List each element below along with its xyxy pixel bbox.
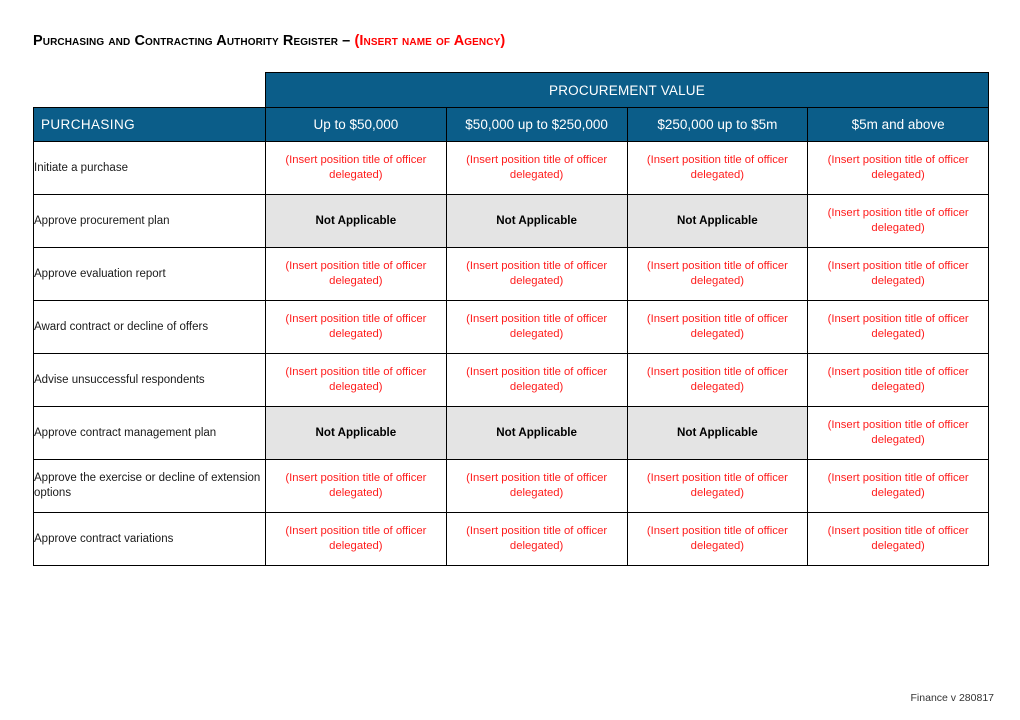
table-row: Approve contract variations (Insert posi… (34, 513, 989, 566)
table-cell: (Insert position title of officer delega… (266, 354, 447, 407)
row-label: Initiate a purchase (34, 142, 266, 195)
table-cell: Not Applicable (446, 195, 627, 248)
table-row: Initiate a purchase (Insert position tit… (34, 142, 989, 195)
row-label: Approve contract management plan (34, 407, 266, 460)
footer-version-note: Finance v 280817 (911, 692, 994, 704)
column-header-purchasing: PURCHASING (34, 108, 266, 142)
table-cell: Not Applicable (627, 195, 808, 248)
table-cell: (Insert position title of officer delega… (446, 354, 627, 407)
table-cell: (Insert position title of officer delega… (627, 301, 808, 354)
table-cell: Not Applicable (627, 407, 808, 460)
table-body: Initiate a purchase (Insert position tit… (34, 142, 989, 566)
table-cell: (Insert position title of officer delega… (266, 460, 447, 513)
column-header-value-2: $50,000 up to $250,000 (446, 108, 627, 142)
table-cell: (Insert position title of officer delega… (627, 248, 808, 301)
table-cell: Not Applicable (266, 407, 447, 460)
table-cell: Not Applicable (446, 407, 627, 460)
banner-row: PROCUREMENT VALUE (34, 73, 989, 108)
table-cell: (Insert position title of officer delega… (808, 142, 989, 195)
page-title: Purchasing and Contracting Authority Reg… (33, 33, 505, 49)
row-label: Advise unsuccessful respondents (34, 354, 266, 407)
table-cell: (Insert position title of officer delega… (627, 460, 808, 513)
table-cell: (Insert position title of officer delega… (266, 513, 447, 566)
column-header-value-3: $250,000 up to $5m (627, 108, 808, 142)
table-cell: (Insert position title of officer delega… (808, 248, 989, 301)
row-label: Award contract or decline of offers (34, 301, 266, 354)
row-label: Approve contract variations (34, 513, 266, 566)
column-header-row: PURCHASING Up to $50,000 $50,000 up to $… (34, 108, 989, 142)
table-cell: (Insert position title of officer delega… (808, 301, 989, 354)
table-cell: (Insert position title of officer delega… (446, 248, 627, 301)
table-cell: (Insert position title of officer delega… (266, 142, 447, 195)
table-cell: (Insert position title of officer delega… (808, 354, 989, 407)
table-row: Advise unsuccessful respondents (Insert … (34, 354, 989, 407)
row-label: Approve the exercise or decline of exten… (34, 460, 266, 513)
table-row: Approve contract management plan Not App… (34, 407, 989, 460)
page-title-black-part: Purchasing and Contracting Authority Reg… (33, 33, 354, 49)
table-cell: Not Applicable (266, 195, 447, 248)
table-cell: (Insert position title of officer delega… (627, 354, 808, 407)
table-cell: (Insert position title of officer delega… (266, 301, 447, 354)
table-row: Approve procurement plan Not Applicable … (34, 195, 989, 248)
table-row: Award contract or decline of offers (Ins… (34, 301, 989, 354)
table-cell: (Insert position title of officer delega… (808, 513, 989, 566)
column-header-value-1: Up to $50,000 (266, 108, 447, 142)
column-header-value-4: $5m and above (808, 108, 989, 142)
table-cell: (Insert position title of officer delega… (627, 142, 808, 195)
table-cell: (Insert position title of officer delega… (446, 460, 627, 513)
authority-register-table: PROCUREMENT VALUE PURCHASING Up to $50,0… (33, 72, 989, 566)
table-row: Approve evaluation report (Insert positi… (34, 248, 989, 301)
table-cell: (Insert position title of officer delega… (446, 301, 627, 354)
table-cell: (Insert position title of officer delega… (446, 513, 627, 566)
row-label: Approve evaluation report (34, 248, 266, 301)
table-cell: (Insert position title of officer delega… (446, 142, 627, 195)
procurement-value-banner: PROCUREMENT VALUE (266, 73, 989, 108)
page-title-red-placeholder: (Insert name of Agency) (354, 33, 505, 49)
table-cell: (Insert position title of officer delega… (266, 248, 447, 301)
table-cell: (Insert position title of officer delega… (808, 195, 989, 248)
banner-spacer-cell (34, 73, 266, 108)
table-row: Approve the exercise or decline of exten… (34, 460, 989, 513)
table-cell: (Insert position title of officer delega… (808, 460, 989, 513)
row-label: Approve procurement plan (34, 195, 266, 248)
table-cell: (Insert position title of officer delega… (627, 513, 808, 566)
table-head: PROCUREMENT VALUE PURCHASING Up to $50,0… (34, 73, 989, 142)
table-cell: (Insert position title of officer delega… (808, 407, 989, 460)
